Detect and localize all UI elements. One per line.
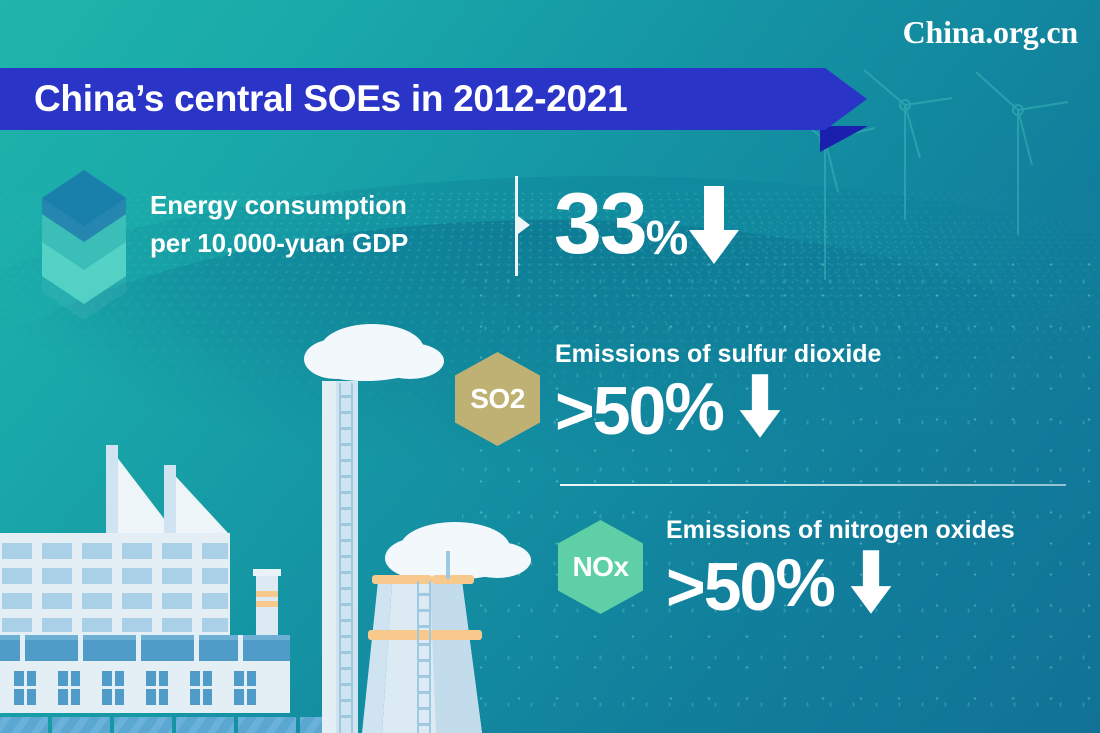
so2-value-group: >50 % bbox=[555, 372, 782, 444]
small-chimney bbox=[253, 569, 281, 635]
page-title: China’s central SOEs in 2012-2021 bbox=[34, 68, 627, 130]
factory-railing bbox=[0, 635, 290, 663]
site-logo[interactable]: China.org.cn bbox=[903, 14, 1078, 51]
so2-unit: % bbox=[664, 375, 723, 444]
cloud-icon bbox=[385, 522, 531, 580]
arrow-down-icon bbox=[738, 372, 782, 440]
nox-badge: NOx bbox=[558, 520, 643, 614]
nox-value: >50 bbox=[666, 555, 775, 620]
energy-value-group: 33 % bbox=[554, 184, 741, 266]
energy-label: Energy consumption per 10,000-yuan GDP bbox=[150, 186, 408, 262]
stat-energy-consumption: Energy consumption per 10,000-yuan GDP 3… bbox=[42, 170, 842, 290]
stacked-energy-bar-icon bbox=[42, 170, 126, 320]
divider-pointer-icon bbox=[518, 216, 530, 234]
nox-value-group: >50 % bbox=[666, 548, 893, 620]
so2-badge: SO2 bbox=[455, 352, 540, 446]
energy-label-line2: per 10,000-yuan GDP bbox=[150, 224, 408, 262]
arrow-down-icon bbox=[687, 184, 741, 266]
arrow-down-icon bbox=[849, 548, 893, 616]
section-divider bbox=[560, 484, 1066, 486]
energy-label-line1: Energy consumption bbox=[150, 186, 408, 224]
solar-panels bbox=[0, 717, 358, 733]
banner-arrow-tip bbox=[825, 68, 867, 130]
nox-unit: % bbox=[775, 551, 834, 620]
factory-roof bbox=[106, 445, 228, 535]
nox-label: Emissions of nitrogen oxides bbox=[666, 516, 1015, 545]
energy-value: 33 bbox=[554, 184, 646, 266]
factory-lower-building bbox=[0, 661, 290, 713]
title-banner: China’s central SOEs in 2012-2021 bbox=[0, 68, 880, 140]
so2-label: Emissions of sulfur dioxide bbox=[555, 340, 881, 369]
stat-sulfur-dioxide: SO2 Emissions of sulfur dioxide >50 % bbox=[455, 340, 1075, 460]
infographic-canvas: China.org.cn China’s central SOEs in 201… bbox=[0, 0, 1100, 733]
cooling-tower bbox=[362, 551, 482, 733]
so2-value: >50 bbox=[555, 379, 664, 444]
stat-nitrogen-oxides: NOx Emissions of nitrogen oxides >50 % bbox=[558, 508, 1098, 633]
cloud-icon bbox=[304, 324, 444, 381]
energy-unit: % bbox=[646, 216, 688, 266]
factory-main-building bbox=[0, 533, 230, 638]
tall-smokestack bbox=[322, 381, 358, 733]
